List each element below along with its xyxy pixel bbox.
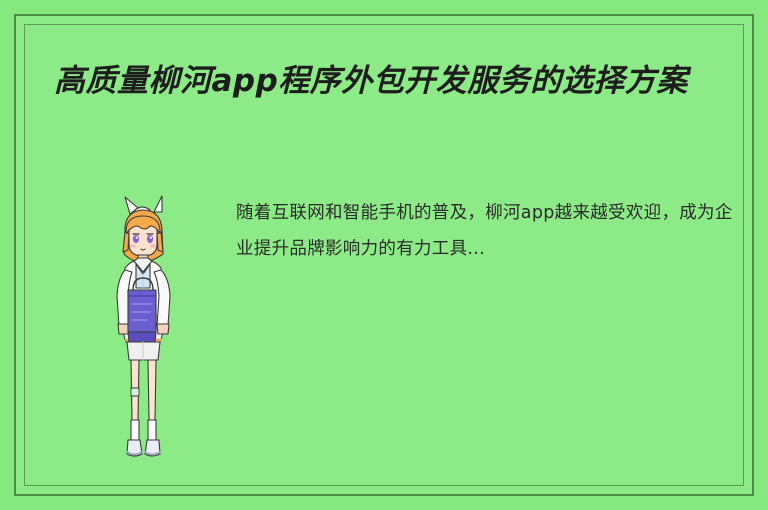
page-title: 高质量柳河app程序外包开发服务的选择方案 bbox=[54, 62, 734, 102]
article-card: 高质量柳河app程序外包开发服务的选择方案 随着互联网和智能手机的普及，柳河ap… bbox=[14, 14, 754, 496]
article-summary: 随着互联网和智能手机的普及，柳河app越来越受欢迎，成为企业提升品牌影响力的有力… bbox=[236, 196, 744, 268]
anime-girl-character-illustration bbox=[92, 192, 212, 487]
